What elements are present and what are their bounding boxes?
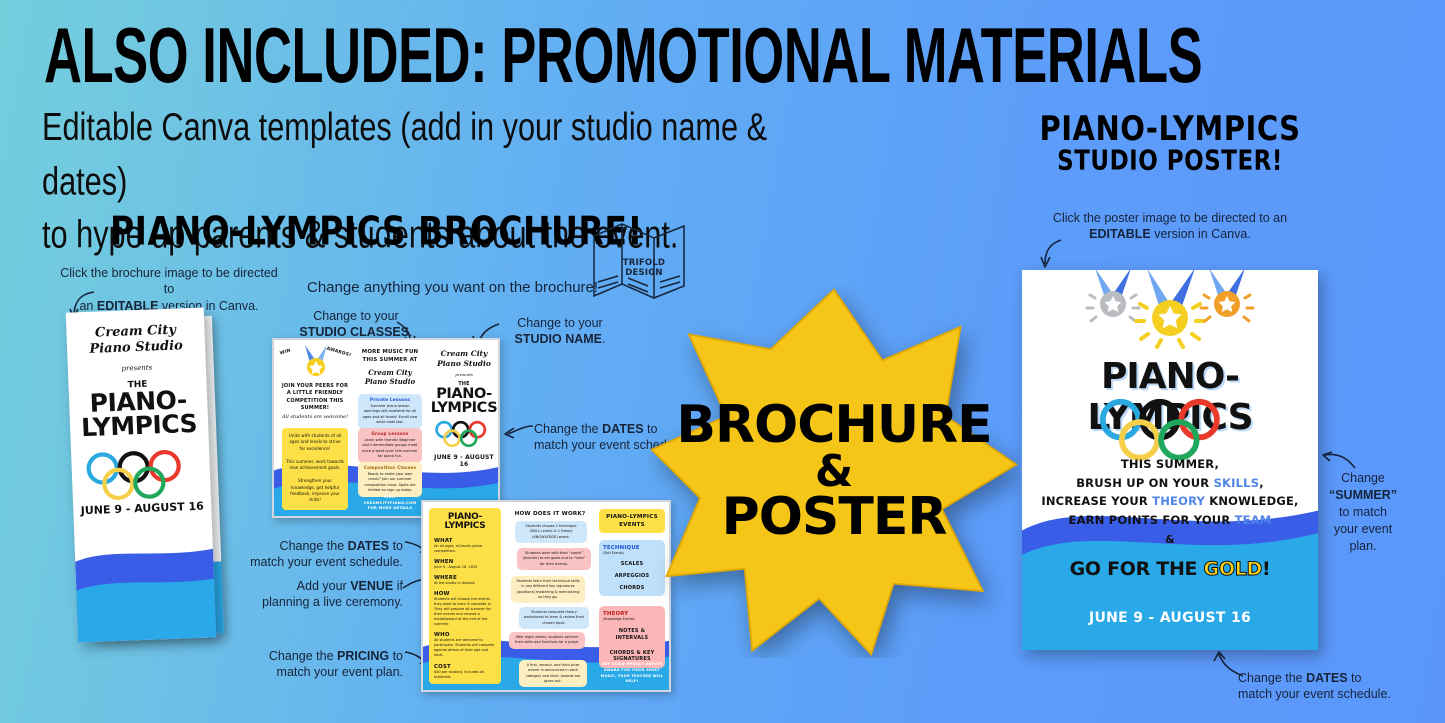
list-item: WHERE At the studio in lessons (434, 575, 496, 586)
brochure-cover-image[interactable]: Cream City Piano Studio presents THE PIA… (72, 310, 222, 650)
outside-left-column: PIANO- LYMPICS WHAT An all-ages, all-lev… (429, 508, 501, 684)
outside-mid-heading: HOW DOES IT WORK? (507, 511, 593, 517)
brochure-section-title: PIANO-LYMPICS BROCHURE! (110, 208, 643, 254)
flow-step-3: Students learn their technique skills in… (511, 576, 585, 603)
brochure-inside-panel[interactable]: WIN AWARDS! JOIN YOUR PEERS FOR A LITTLE… (272, 338, 500, 518)
change-anything-note: Change anything you want on the brochure… (307, 278, 598, 298)
slide-canvas: ALSO INCLUDED: PROMOTIONAL MATERIALS Edi… (0, 0, 1445, 723)
cover-title: PIANO- LYMPICS (69, 387, 209, 440)
subheadline-line-1: Editable Canva templates (add in your st… (42, 100, 860, 207)
medals-icon (1055, 270, 1285, 360)
summer-arrow (1322, 452, 1356, 470)
inside-mid-studio: Cream City Piano Studio (356, 368, 424, 386)
starburst-line-3: POSTER (722, 494, 947, 542)
cover-wave-decor (66, 516, 217, 642)
poster-ampersand: & (1022, 531, 1318, 549)
venue-note: Add your VENUE if planning a live ceremo… (245, 578, 403, 611)
brochure-dates-arrow (502, 424, 534, 440)
panel2-dates-note: Change the DATES to match your event sch… (238, 538, 403, 571)
inside-left-bullet-3: Strengthen your knowledge, get helpful f… (286, 478, 344, 503)
poster-body-text: THIS SUMMER, BRUSH UP ON YOUR SKILLS, IN… (1022, 455, 1318, 585)
flow-step-4: Students complete theory worksheets to l… (519, 607, 589, 629)
inside-right-dates: JUNE 9 - AUGUST 16 (429, 454, 499, 468)
poster-click-note: Click the poster image to be directed to… (1040, 210, 1300, 243)
inside-mid-heading: MORE MUSIC FUN THIS SUMMER AT (356, 348, 424, 364)
brochure-outside-panel[interactable]: PIANO- LYMPICS WHAT An all-ages, all-lev… (421, 500, 671, 692)
inside-left-heading: JOIN YOUR PEERS FOR A LITTLE FRIENDLY CO… (281, 383, 349, 412)
medal-left-word: WIN (279, 348, 291, 356)
page-headline: ALSO INCLUDED: PROMOTIONAL MATERIALS (44, 16, 1202, 94)
poster-dates: JUNE 9 - AUGUST 16 (1022, 610, 1318, 626)
inside-right-studio: Cream City Piano Studio (429, 349, 499, 369)
inside-right-presents: presents (429, 372, 499, 377)
list-item: WHAT An all-ages, all-levels piano compe… (434, 538, 496, 554)
trifold-label: TRIFOLD DESIGN (604, 258, 684, 278)
poster-dates-arrow (1213, 652, 1245, 678)
list-item: WHO All students are welcome to particip… (434, 632, 496, 658)
olympic-rings-icon (85, 448, 199, 504)
brochure-and-poster-starburst: BROCHURE & POSTER (648, 286, 1020, 658)
flow-step-6: A first, second, and third prize winner … (519, 660, 587, 687)
poster-image[interactable]: PIANO-LYMPICS THIS SUMMER, BRUSH UP ON Y… (1022, 270, 1318, 650)
flow-step-1: Students choose 1 technique (SKILL) even… (515, 521, 587, 543)
olympic-rings-icon (435, 420, 495, 449)
starburst-text: BROCHURE & POSTER (648, 286, 1020, 658)
cover-studio-name: Cream City Piano Studio (66, 321, 205, 359)
poster-line-1: THIS SUMMER, (1121, 457, 1219, 471)
list-item: COST $40 per student, includes all mater… (434, 664, 496, 680)
inside-mid-footer: VISIT CREAMCITYPIANO.COM FOR MORE DETAIL… (356, 494, 424, 511)
poster-dates-note: Change the DATES to match your event sch… (1238, 670, 1438, 703)
summer-note: Change “SUMMER” to match your event plan… (1326, 470, 1400, 554)
outside-left-items: WHAT An all-ages, all-levels piano compe… (434, 538, 496, 680)
poster-click-arrow (1039, 238, 1065, 270)
inside-left-bullet-2: This summer, work towards new achievemen… (286, 459, 344, 472)
list-item: HOW Students will choose the events they… (434, 591, 496, 627)
pricing-note: Change the PRICING to match your event p… (240, 648, 403, 681)
list-item: WHEN June 9 - August 16, 2025 (434, 559, 496, 570)
starburst-line-2: & (815, 452, 853, 492)
poster-section-title-line1: PIANO-LYMPICS (1031, 108, 1309, 148)
flow-step-5: After eight weeks, students perform thei… (509, 632, 585, 649)
flow-step-2: Students work with their “coach” (teache… (517, 548, 591, 570)
poster-gold-line: GO FOR THE GOLD! (1022, 554, 1318, 585)
inside-left-bullets-box: Unite with students of all ages and leve… (282, 428, 348, 510)
inside-card-composition-classes: Composition Classes Ready to make your o… (358, 462, 422, 497)
outside-left-title: PIANO- LYMPICS (434, 513, 496, 531)
poster-section-title-line2: STUDIO POSTER! (1031, 146, 1309, 177)
inside-card-group-lessons: Group Lessons Learn with friends! Beginn… (358, 428, 422, 463)
inside-left-subheading: All students are welcome! (281, 414, 349, 420)
inside-left-bullet-1: Unite with students of all ages and leve… (286, 433, 344, 452)
brochure-front-page[interactable]: Cream City Piano Studio presents THE PIA… (66, 307, 217, 642)
inside-card-private-lessons: Private Lessons Summer piano lesson open… (358, 394, 422, 429)
inside-right-title: PIANO- LYMPICS (429, 388, 499, 416)
cover-presents-label: presents (68, 361, 206, 374)
starburst-line-1: BROCHURE (676, 402, 991, 450)
studio-name-note: Change to your STUDIO NAME. (500, 315, 620, 348)
events-footer: ANY SIZED MEDALS AND/OR AWARD FOR THEIR … (599, 662, 665, 685)
